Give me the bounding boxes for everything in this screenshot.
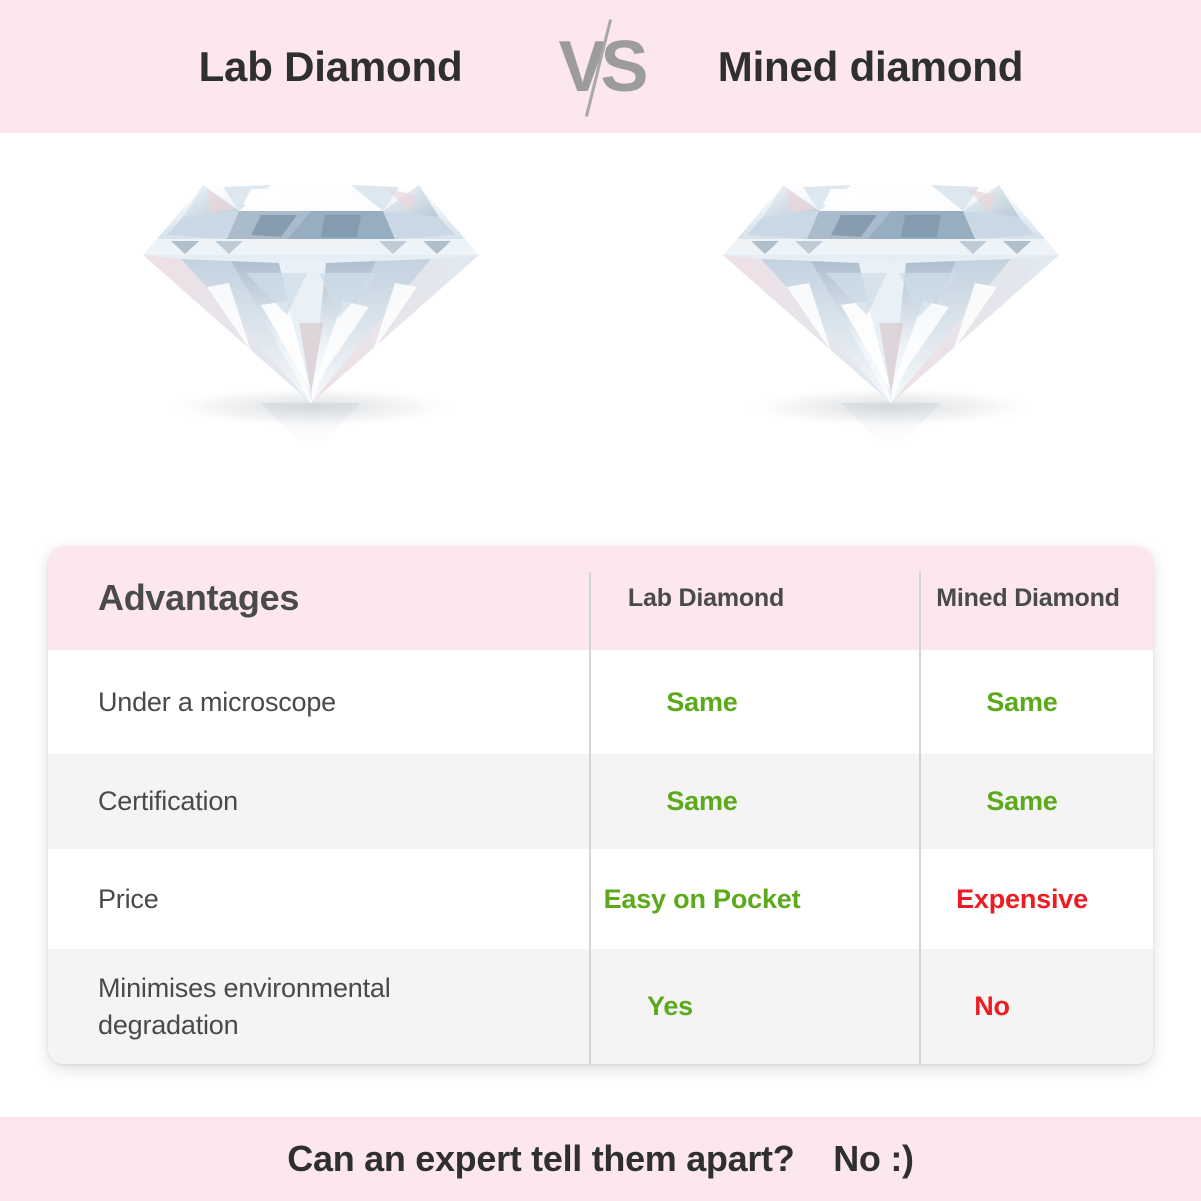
row-mined-cell: Expensive	[871, 849, 1153, 949]
table-row: Under a microscope Same Same	[48, 650, 1153, 754]
row-feature-cell: Under a microscope	[48, 650, 541, 754]
row-lab-value: Yes	[647, 991, 693, 1022]
header-label-lab: Lab Diamond	[628, 584, 784, 613]
lab-diamond-image	[111, 155, 511, 485]
mined-diamond-image	[691, 155, 1091, 485]
row-feature-cell: Minimises environmental degradation	[48, 949, 541, 1064]
row-mined-value: Same	[986, 687, 1057, 718]
header-cell-feature: Advantages	[48, 546, 541, 650]
diamond-illustration-icon	[111, 155, 511, 455]
row-feature-cell: Price	[48, 849, 541, 949]
row-feature-label: Under a microscope	[98, 684, 336, 720]
row-lab-value: Easy on Pocket	[604, 884, 801, 915]
row-mined-cell: Same	[871, 754, 1153, 849]
header-label-mined: Mined Diamond	[936, 584, 1120, 613]
table-row: Price Easy on Pocket Expensive	[48, 849, 1153, 949]
diamond-illustration-icon	[691, 155, 1091, 455]
row-mined-value: Same	[986, 786, 1057, 817]
row-feature-label: Certification	[98, 783, 238, 819]
row-mined-value: Expensive	[956, 884, 1088, 915]
column-divider-1	[589, 572, 591, 1064]
diamond-images-row	[0, 133, 1201, 533]
row-feature-label: Price	[98, 881, 159, 917]
comparison-table: Advantages Lab Diamond Mined Diamond Und…	[48, 546, 1153, 1064]
header-cell-mined: Mined Diamond	[871, 546, 1153, 650]
left-product-title: Lab Diamond	[121, 43, 541, 91]
row-mined-cell: No	[871, 949, 1153, 1064]
table-row: Certification Same Same	[48, 754, 1153, 849]
top-banner: Lab Diamond VS Mined diamond	[0, 0, 1201, 133]
row-mined-cell: Same	[871, 650, 1153, 754]
column-divider-2	[919, 572, 921, 1064]
advantages-title: Advantages	[98, 577, 299, 619]
row-lab-value: Same	[666, 786, 737, 817]
row-feature-label: Minimises environmental degradation	[98, 970, 518, 1043]
table-row: Minimises environmental degradation Yes …	[48, 949, 1153, 1064]
row-mined-value: No	[974, 991, 1010, 1022]
closing-question: Can an expert tell them apart? No :)	[287, 1138, 913, 1180]
comparison-infographic: Lab Diamond VS Mined diamond	[0, 0, 1201, 1201]
row-feature-cell: Certification	[48, 754, 541, 849]
right-product-title: Mined diamond	[661, 43, 1081, 91]
table-header-row: Advantages Lab Diamond Mined Diamond	[48, 546, 1153, 650]
bottom-banner: Can an expert tell them apart? No :)	[0, 1117, 1201, 1201]
versus-badge: VS	[541, 12, 661, 122]
row-lab-value: Same	[666, 687, 737, 718]
versus-label: VS	[558, 31, 642, 103]
